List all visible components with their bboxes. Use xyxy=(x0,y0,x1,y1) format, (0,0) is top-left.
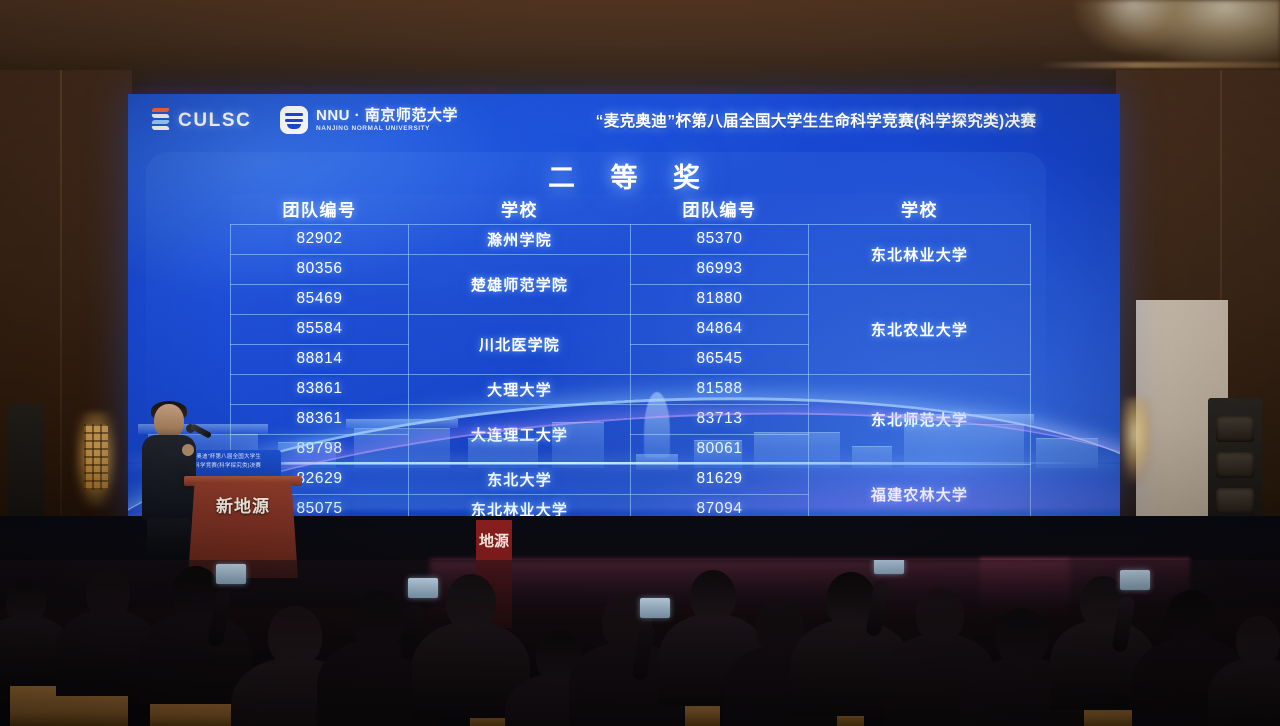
cell-team-id-left: 83861 xyxy=(231,374,409,404)
audience-phone-screen xyxy=(1120,570,1150,590)
cell-school-left: 东北大学 xyxy=(409,464,631,494)
cell-school-left: 川北医学院 xyxy=(409,314,631,374)
nnu-logo: NNU · 南京师范大学 NANJING NORMAL UNIVERSITY xyxy=(280,106,458,134)
cell-team-id-left: 80356 xyxy=(231,254,409,284)
cell-team-id-right: 80061 xyxy=(631,434,809,464)
audience-phone-screen xyxy=(640,598,670,618)
cell-school-right: 东北农业大学 xyxy=(809,284,1031,374)
speaker-legs xyxy=(147,518,191,560)
cell-school-left: 大理大学 xyxy=(409,374,631,404)
culsc-wordmark: CULSC xyxy=(178,110,251,132)
cell-school-right: 福建农林大学 xyxy=(809,464,1031,516)
podium-brand-label: 新地源 xyxy=(216,497,270,517)
cell-team-id-left: 88361 xyxy=(231,404,409,434)
cell-school-left: 大连理工大学 xyxy=(409,404,631,464)
audience xyxy=(0,560,1280,726)
nnu-emblem-icon xyxy=(280,106,308,134)
cell-school-right: 东北林业大学 xyxy=(809,224,1031,284)
audience-person-head xyxy=(690,570,736,622)
table-header-row: 团队编号 学校 团队编号 学校 xyxy=(231,194,1031,224)
ceiling-light-ornament-secondary xyxy=(1074,0,1194,54)
event-title: “麦克奥迪”杯第八届全国大学生生命科学竞赛(科学探究类)决赛 xyxy=(532,109,1100,131)
cell-team-id-right: 81588 xyxy=(631,374,809,404)
table-row: 8546981880东北农业大学 xyxy=(231,284,1031,314)
cell-team-id-left: 82902 xyxy=(231,224,409,254)
audience-person-head xyxy=(916,588,964,642)
ceiling-edge-trim xyxy=(1040,62,1280,68)
cell-school-right: 东北师范大学 xyxy=(809,374,1031,464)
column-header-school-left: 学校 xyxy=(409,194,631,224)
awards-table: 团队编号 学校 团队编号 学校 82902滁州学院85370东北林业大学8035… xyxy=(230,194,1031,516)
audience-phone-screen xyxy=(216,564,246,584)
audience-person-head xyxy=(6,580,46,624)
nnu-name: NNU · 南京师范大学 xyxy=(316,108,458,123)
audience-person-head xyxy=(1166,590,1216,646)
audience-person-head xyxy=(996,608,1048,666)
column-header-school-right: 学校 xyxy=(809,194,1031,224)
audience-person-head xyxy=(268,606,322,666)
speaker-hand xyxy=(182,444,194,456)
audience-phone-screen xyxy=(408,578,438,598)
awards-table-body: 82902滁州学院85370东北林业大学80356楚雄师范学院869938546… xyxy=(231,224,1031,516)
cell-team-id-right: 86545 xyxy=(631,344,809,374)
screen-header: CULSC NNU · 南京师范大学 NANJING NORMAL UNIVER… xyxy=(128,94,1120,146)
cell-team-id-right: 86993 xyxy=(631,254,809,284)
audience-person-head xyxy=(1236,616,1280,666)
audience-person-head xyxy=(446,574,496,630)
table-row: 83861大理大学81588东北师范大学 xyxy=(231,374,1031,404)
culsc-logo: CULSC xyxy=(152,108,251,134)
cell-team-id-right: 85370 xyxy=(631,224,809,254)
audience-person-head xyxy=(352,590,404,648)
audience-person-head xyxy=(86,568,130,618)
speaker-head xyxy=(154,404,184,438)
cell-team-id-left: 85584 xyxy=(231,314,409,344)
award-category-title: 二 等 奖 xyxy=(128,156,1120,195)
wall-panel-seam xyxy=(60,70,62,590)
cell-team-id-right: 87094 xyxy=(631,494,809,516)
column-header-team-id-right: 团队编号 xyxy=(631,194,809,224)
cell-school-left: 楚雄师范学院 xyxy=(409,254,631,314)
column-header-team-id-left: 团队编号 xyxy=(231,194,409,224)
cell-team-id-right: 83713 xyxy=(631,404,809,434)
cell-team-id-right: 84864 xyxy=(631,314,809,344)
cell-team-id-left: 85469 xyxy=(231,284,409,314)
nnu-name-english: NANJING NORMAL UNIVERSITY xyxy=(316,126,458,133)
awards-table-wrapper: 团队编号 学校 团队编号 学校 82902滁州学院85370东北林业大学8035… xyxy=(230,194,1030,516)
audience-phone-screen xyxy=(874,560,904,574)
cell-team-id-left: 88814 xyxy=(231,344,409,374)
cell-school-left: 东北林业大学 xyxy=(409,494,631,516)
table-row: 82902滁州学院85370东北林业大学 xyxy=(231,224,1031,254)
wall-lamp-left-lattice xyxy=(84,424,108,490)
dna-helix-icon xyxy=(152,108,169,134)
cell-school-left: 滁州学院 xyxy=(409,224,631,254)
auditorium-scene: CULSC NNU · 南京师范大学 NANJING NORMAL UNIVER… xyxy=(0,0,1280,726)
cell-team-id-right: 81880 xyxy=(631,284,809,314)
table-row: 82629东北大学81629福建农林大学 xyxy=(231,464,1031,494)
stage-side-banner-text: 地源 xyxy=(476,528,512,554)
podium-brand-text: 新地源 xyxy=(188,496,298,518)
wall-lamp-right-glow xyxy=(1118,398,1152,484)
cell-team-id-right: 81629 xyxy=(631,464,809,494)
